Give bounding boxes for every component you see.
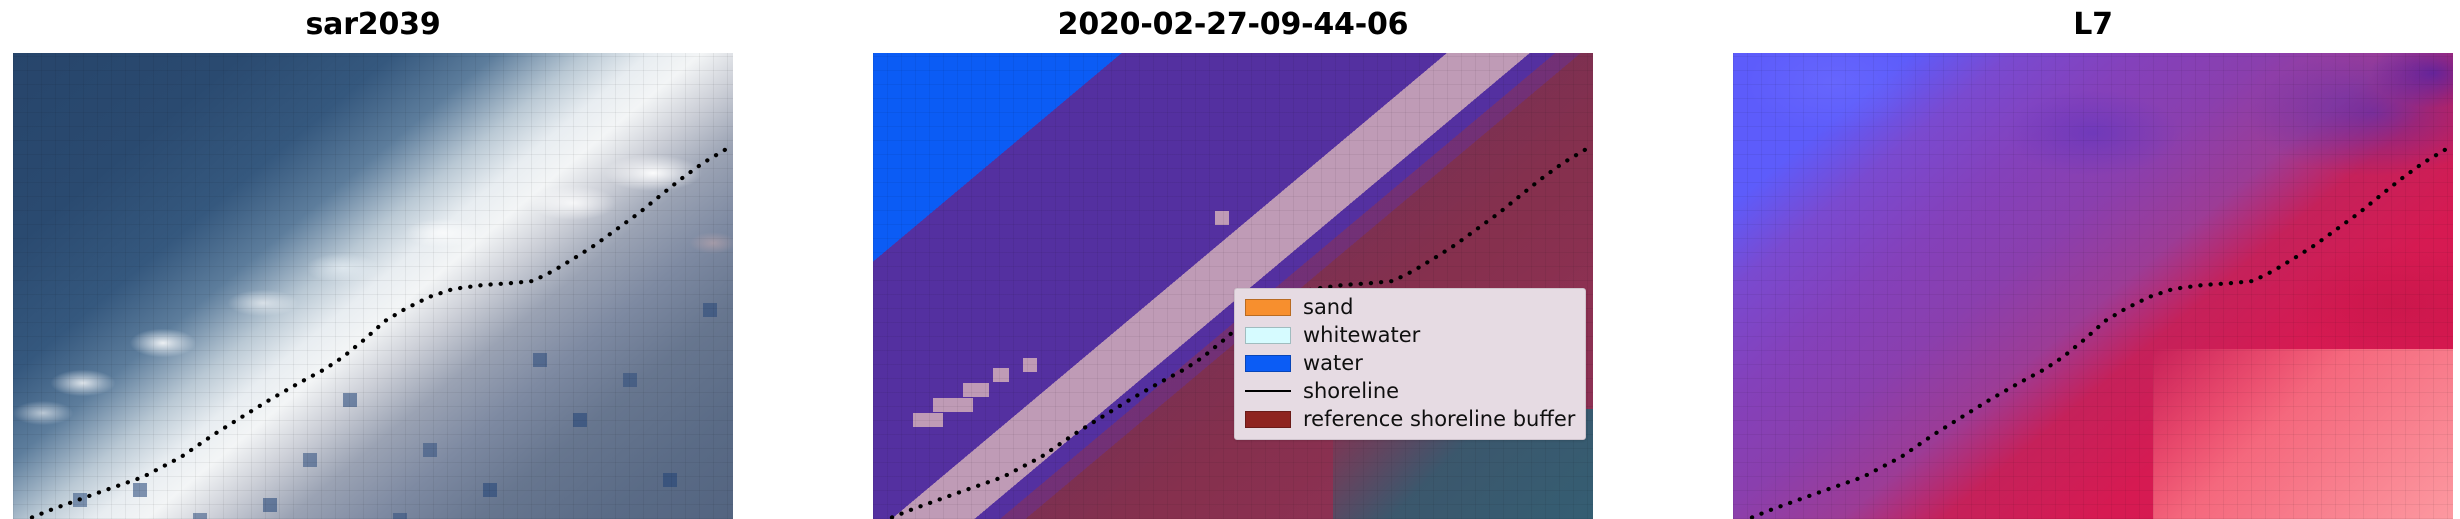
legend-label-sand: sand	[1303, 294, 1353, 320]
legend-item-sand[interactable]: sand	[1241, 293, 1575, 321]
panel-sar2039	[13, 53, 733, 519]
legend-label-shoreline: shoreline	[1303, 378, 1399, 404]
pixel-grid-overlay	[13, 53, 733, 519]
pixel-grid-overlay	[1733, 53, 2453, 519]
legend-item-water[interactable]: water	[1241, 349, 1575, 377]
legend-item-shoreline[interactable]: shoreline	[1241, 377, 1575, 405]
water-swatch-icon	[1245, 355, 1291, 372]
legend-label-water: water	[1303, 350, 1363, 376]
legend-box: sand whitewater water shoreline referenc…	[1234, 288, 1586, 440]
shoreline-line-icon	[1245, 383, 1291, 400]
legend-label-reference-buffer: reference shoreline buffer	[1303, 406, 1575, 432]
whitewater-swatch-icon	[1245, 327, 1291, 344]
reference-buffer-swatch-icon	[1245, 411, 1291, 428]
figure-canvas: sar2039 2020-02-27-09-44-06 L7	[0, 0, 2460, 519]
panel-l7	[1733, 53, 2453, 519]
panel-title-3: L7	[1733, 6, 2453, 44]
panel-classified	[873, 53, 1593, 519]
panel-title-1: sar2039	[13, 6, 733, 44]
sand-swatch-icon	[1245, 299, 1291, 316]
legend-item-reference-buffer[interactable]: reference shoreline buffer	[1241, 405, 1575, 433]
legend-label-whitewater: whitewater	[1303, 322, 1420, 348]
panel-title-2: 2020-02-27-09-44-06	[873, 6, 1593, 44]
legend-item-whitewater[interactable]: whitewater	[1241, 321, 1575, 349]
pixel-grid-overlay	[873, 53, 1593, 519]
